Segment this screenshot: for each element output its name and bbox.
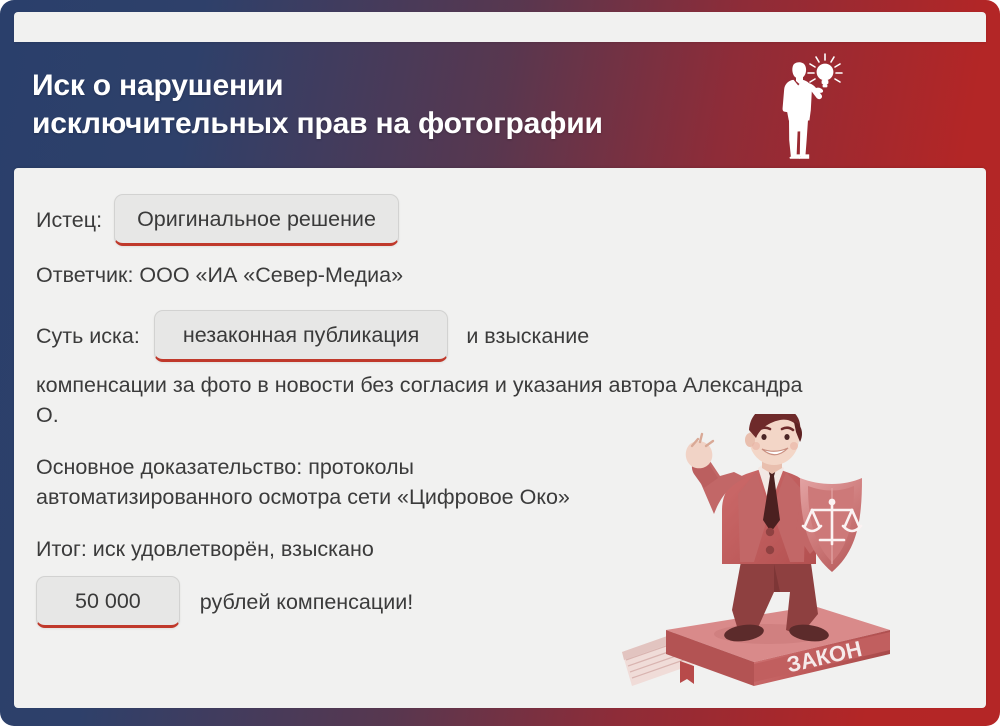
result-row: Итог: иск удовлетворён, взыскано bbox=[36, 534, 834, 565]
defendant-text: Ответчик: ООО «ИА «Север-Медиа» bbox=[36, 260, 403, 291]
page-title: Иск о нарушении исключительных прав на ф… bbox=[32, 67, 603, 144]
subject-row: Суть иска: незаконная публикация и взыск… bbox=[36, 310, 834, 362]
person-with-lightbulb-icon bbox=[764, 50, 850, 162]
case-details: Истец: Оригинальное решение Ответчик: ОО… bbox=[14, 168, 834, 628]
subject-label: Суть иска: bbox=[36, 321, 140, 352]
subject-suffix-text: и взыскание bbox=[466, 321, 589, 352]
content-panel: ЗАКОН bbox=[14, 168, 986, 708]
result-text: Итог: иск удовлетворён, взыскано bbox=[36, 534, 374, 565]
top-light-strip bbox=[14, 12, 986, 42]
amount-row: 50 000 рублей компенсации! bbox=[36, 576, 834, 628]
amount-value-chip[interactable]: 50 000 bbox=[36, 576, 180, 628]
defendant-row: Ответчик: ООО «ИА «Север-Медиа» bbox=[36, 260, 834, 291]
claim-paragraph: компенсации за фото в новости без соглас… bbox=[36, 370, 826, 430]
plaintiff-value-chip[interactable]: Оригинальное решение bbox=[114, 194, 399, 246]
header-band: Иск о нарушении исключительных прав на ф… bbox=[0, 42, 1000, 168]
amount-suffix-text: рублей компенсации! bbox=[200, 587, 413, 618]
subject-value-chip[interactable]: незаконная публикация bbox=[154, 310, 448, 362]
plaintiff-label: Истец: bbox=[36, 205, 102, 236]
evidence-paragraph: Основное доказательство: протоколы автом… bbox=[36, 452, 596, 512]
infographic-card: Иск о нарушении исключительных прав на ф… bbox=[0, 0, 1000, 726]
plaintiff-row: Истец: Оригинальное решение bbox=[36, 194, 834, 246]
